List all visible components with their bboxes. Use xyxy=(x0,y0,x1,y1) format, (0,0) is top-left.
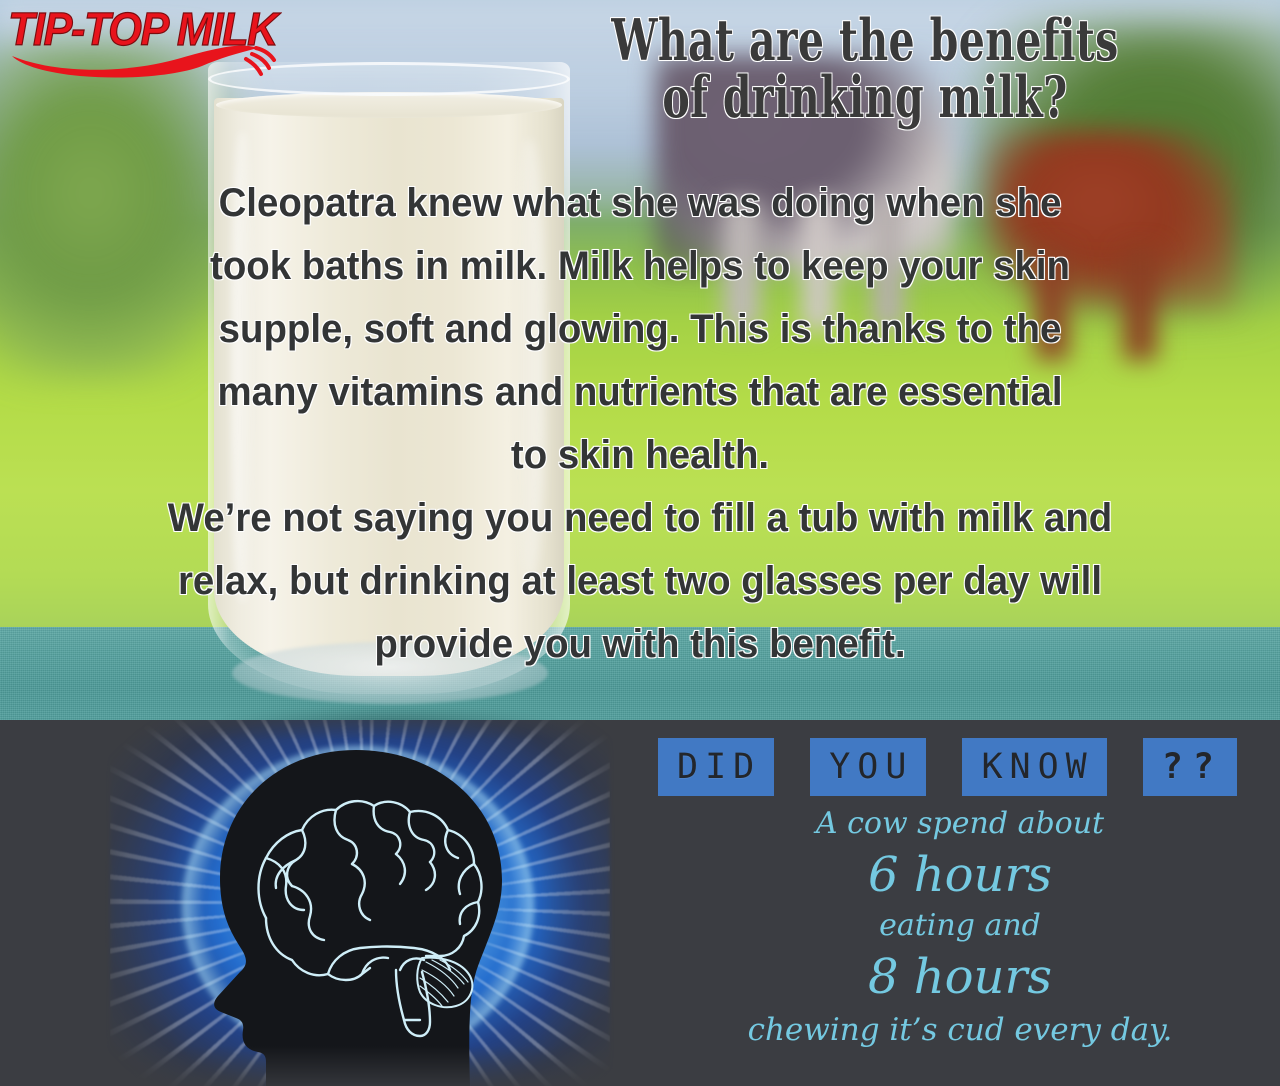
infographic-poster: TIP-TOP MILK What are the benefits of dr… xyxy=(0,0,1280,1086)
page-title: What are the benefits of drinking milk? xyxy=(581,12,1150,126)
fact-line-3: eating and xyxy=(660,908,1260,944)
glow-fade-left xyxy=(0,720,190,1086)
body-line: took baths in milk. Milk helps to keep y… xyxy=(43,235,1237,298)
fact-line-1: A cow spend about xyxy=(660,806,1260,842)
body-line: provide you with this benefit. xyxy=(43,613,1237,676)
dyk-box-know: KNOW xyxy=(962,738,1106,796)
dyk-label: KNOW xyxy=(975,750,1093,785)
dyk-box-you: YOU xyxy=(810,738,926,796)
body-copy: Cleopatra knew what she was doing when s… xyxy=(18,172,1262,676)
body-line: many vitamins and nutrients that are ess… xyxy=(43,361,1237,424)
top-photo-section: TIP-TOP MILK What are the benefits of dr… xyxy=(0,0,1280,720)
body-line: We’re not saying you need to fill a tub … xyxy=(43,487,1237,550)
body-line: to skin health. xyxy=(43,424,1237,487)
glowing-brain-head-illustration xyxy=(70,720,640,1086)
poster-text-overlay: What are the benefits of drinking milk? … xyxy=(0,0,1280,720)
did-you-know-banner: DID YOU KNOW ?? xyxy=(658,736,1258,798)
cow-fact-block: A cow spend about 6 hours eating and 8 h… xyxy=(660,806,1260,1050)
body-line: relax, but drinking at least two glasses… xyxy=(43,550,1237,613)
fact-line-4: 8 hours xyxy=(660,944,1260,1010)
dyk-label: YOU xyxy=(823,750,913,785)
dyk-box-did: DID xyxy=(658,738,774,796)
fact-line-2: 6 hours xyxy=(660,842,1260,908)
dyk-label: DID xyxy=(671,750,761,785)
body-line: supple, soft and glowing. This is thanks… xyxy=(43,298,1237,361)
fact-line-5: chewing it’s cud every day. xyxy=(660,1010,1260,1050)
headline-line-2: of drinking milk? xyxy=(581,69,1150,126)
dyk-label: ?? xyxy=(1156,750,1224,785)
dyk-box-question-marks: ?? xyxy=(1143,738,1237,796)
body-line: Cleopatra knew what she was doing when s… xyxy=(43,172,1237,235)
